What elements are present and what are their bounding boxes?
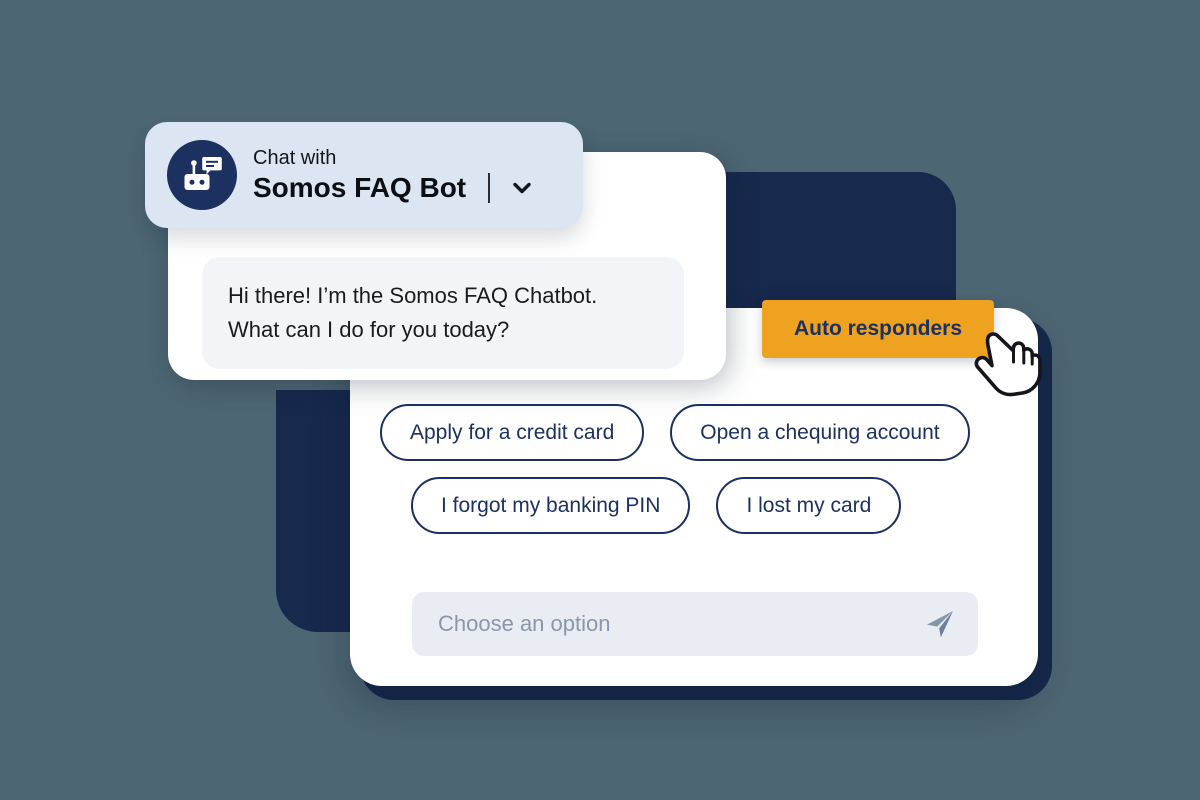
- quick-reply-grid: Apply for a credit card Open a chequing …: [380, 404, 1014, 550]
- chevron-down-icon[interactable]: [510, 176, 534, 200]
- quick-reply-row: Apply for a credit card Open a chequing …: [380, 404, 1014, 461]
- chat-header: Chat with Somos FAQ Bot: [145, 122, 583, 228]
- quick-reply-i-lost-my-card[interactable]: I lost my card: [716, 477, 901, 534]
- quick-reply-apply-for-a-credit-card[interactable]: Apply for a credit card: [380, 404, 644, 461]
- bot-message-line-1: Hi there! I’m the Somos FAQ Chatbot.: [228, 279, 658, 313]
- auto-responders-button[interactable]: Auto responders: [762, 300, 994, 358]
- message-input[interactable]: Choose an option: [438, 611, 920, 637]
- robot-chat-avatar-icon: [167, 140, 237, 210]
- quick-reply-row: I forgot my banking PIN I lost my card: [380, 477, 1014, 534]
- send-paper-plane-icon[interactable]: [920, 605, 958, 643]
- quick-reply-i-forgot-my-banking-pin[interactable]: I forgot my banking PIN: [411, 477, 690, 534]
- message-composer[interactable]: Choose an option: [412, 592, 978, 656]
- bot-message-line-2: What can I do for you today?: [228, 313, 658, 347]
- chat-header-text: Chat with Somos FAQ Bot: [253, 146, 563, 205]
- screenshot-stage: Apply for a credit card Open a chequing …: [0, 0, 1200, 800]
- chat-bot-name: Somos FAQ Bot: [253, 171, 466, 205]
- chat-header-title-row: Somos FAQ Bot: [253, 171, 563, 205]
- bot-message-bubble: Hi there! I’m the Somos FAQ Chatbot. Wha…: [202, 257, 684, 369]
- chat-header-eyebrow: Chat with: [253, 146, 563, 171]
- header-divider: [488, 173, 490, 203]
- quick-reply-open-a-chequing-account[interactable]: Open a chequing account: [670, 404, 969, 461]
